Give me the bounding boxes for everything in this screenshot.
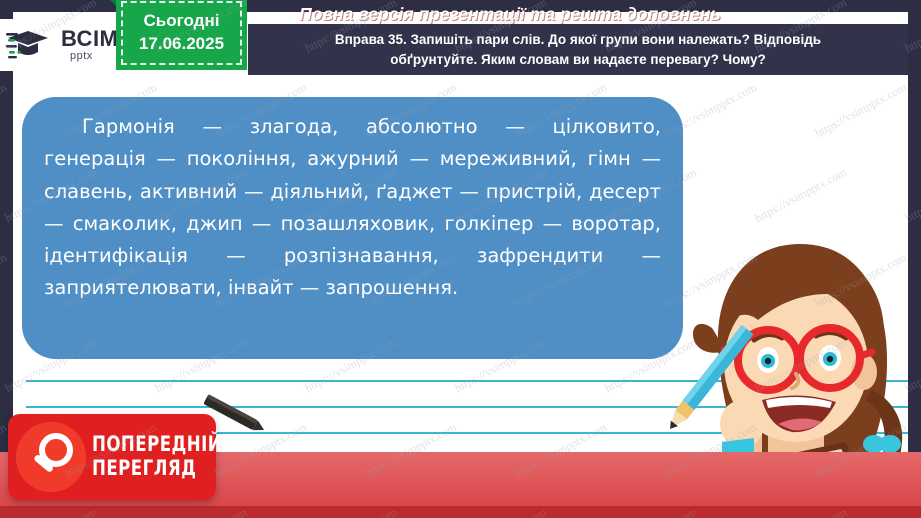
magnifier-icon (16, 422, 86, 492)
badge-fold (106, 0, 116, 6)
word-pairs-card: Гармонія — злагода, абсолютно — цілковит… (22, 97, 683, 359)
banner-line-1: Повна версія презентації та решта доповн… (299, 4, 721, 24)
date-badge: Сьогодні 17.06.2025 (116, 0, 247, 70)
preview-stamp-line2: ПЕРЕГЛЯД (92, 457, 222, 481)
exercise-title-line2: обґрунтуйте. Яким словам ви надаєте пере… (390, 50, 765, 70)
brand-logo: ВСІМ pptx (0, 19, 128, 71)
preview-stamp-line1: ПОПЕРЕДНІЙ (92, 433, 222, 457)
date-badge-label: Сьогодні (144, 10, 220, 33)
logo-wordmark: ВСІМ (61, 28, 118, 50)
graduation-cap-icon (6, 25, 60, 65)
exercise-title-band: Вправа 35. Запишіть пари слів. До якої г… (248, 24, 908, 75)
slide: ВСІМ pptx Сьогодні 17.06.2025 Вправа 35.… (0, 0, 921, 518)
exercise-title-line1: Вправа 35. Запишіть пари слів. До якої г… (335, 30, 821, 50)
logo-subtext: pptx (70, 51, 118, 62)
watermark-text: https://vsimpptx.com (0, 80, 9, 141)
date-badge-value: 17.06.2025 (139, 33, 224, 56)
watermark-text: https://vsimpptx.com (0, 250, 9, 311)
banner-bottom-band (0, 506, 921, 518)
preview-stamp[interactable]: ПОПЕРЕДНІЙ ПЕРЕГЛЯД (8, 414, 216, 500)
word-pairs-text: Гармонія — злагода, абсолютно — цілковит… (44, 111, 661, 305)
